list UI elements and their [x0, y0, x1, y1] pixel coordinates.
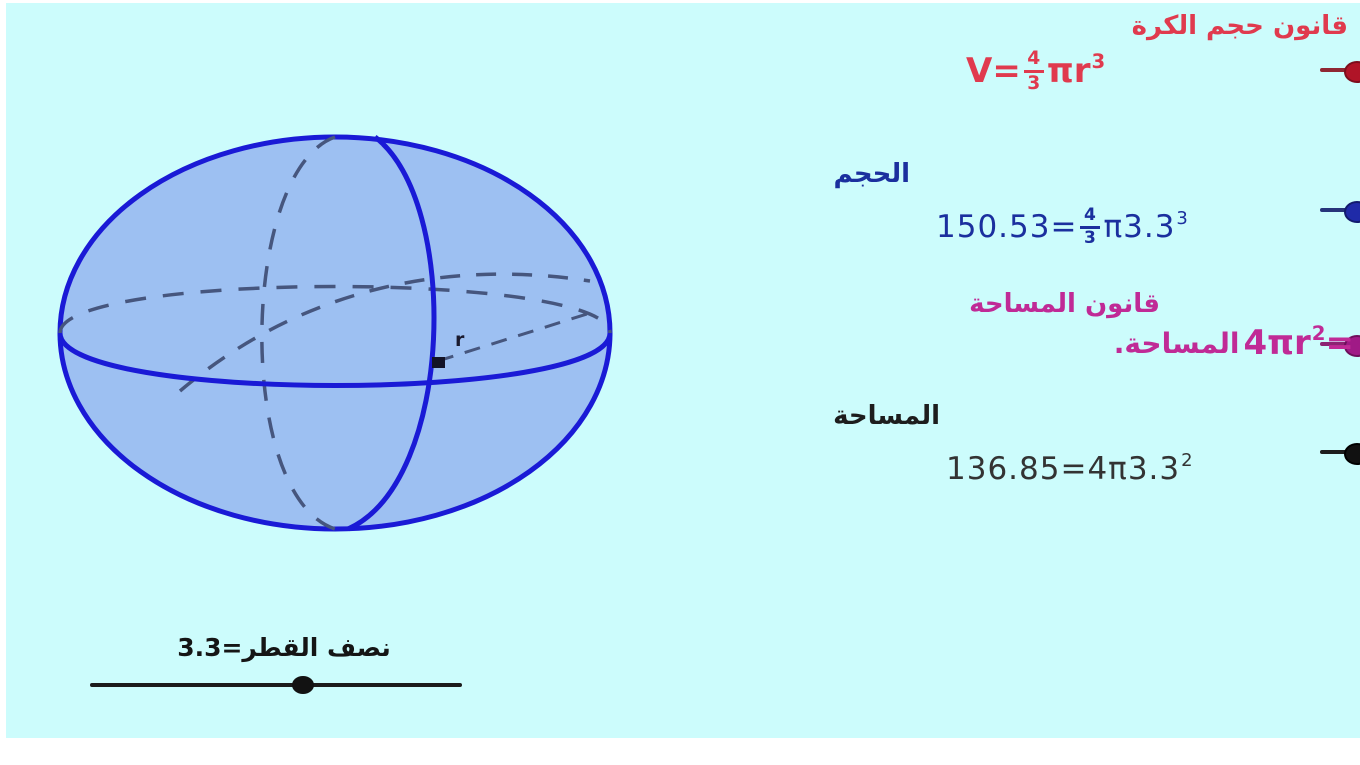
radius-label: r	[455, 329, 464, 351]
volume-value-fraction: 4 3	[1080, 207, 1100, 248]
area-formula-arabic-label: المساحة.	[1114, 327, 1240, 360]
radius-slider-label: نصف القطر=3.3	[84, 633, 484, 662]
algebra-panel: قانون حجم الكرة V= 4 3 πr 3	[826, 11, 1360, 541]
volume-formula-fraction: 4 3	[1024, 49, 1044, 93]
area-value-lhs: 136.85=4π3.3	[946, 451, 1180, 487]
volume-value-denominator: 3	[1082, 230, 1099, 248]
applet-stage: r قانون حجم الكرة V= 4 3	[0, 0, 1360, 765]
geometry-canvas[interactable]: r قانون حجم الكرة V= 4 3	[6, 3, 1360, 738]
area-formula-title: قانون المساحة	[826, 289, 1360, 319]
radius-slider[interactable]: نصف القطر=3.3	[84, 633, 484, 723]
radius-slider-thumb[interactable]	[292, 676, 314, 694]
area-formula-expression: 4πr 2 = المساحة.	[1114, 323, 1354, 363]
sphere-svg	[30, 111, 690, 561]
left-white-margin	[0, 0, 6, 765]
radius-slider-track[interactable]	[90, 683, 462, 687]
volume-formula-lhs: V=	[966, 51, 1021, 91]
volume-formula-numerator: 4	[1025, 49, 1042, 69]
algebra-block-area-formula[interactable]: قانون المساحة 4πr 2 = المساحة.	[826, 289, 1360, 387]
area-formula-equals: =	[1326, 323, 1355, 363]
red-point-marker[interactable]	[1318, 57, 1360, 83]
volume-formula-expression: V= 4 3 πr 3	[966, 49, 1105, 93]
area-value-title: المساحة	[826, 401, 1360, 431]
top-white-margin	[0, 0, 1360, 3]
volume-value-title: الحجم	[826, 159, 1360, 189]
volume-value-expression: 150.53= 4 3 π3.3 3	[936, 207, 1189, 248]
volume-value-lhs: 150.53=	[936, 209, 1077, 245]
right-angle-marker	[432, 357, 445, 368]
algebra-block-volume-value[interactable]: الحجم 150.53= 4 3 π3.3 3	[826, 159, 1360, 271]
volume-value-tail: π3.3	[1103, 209, 1175, 245]
volume-formula-denominator: 3	[1025, 74, 1042, 94]
black-point-marker[interactable]	[1318, 439, 1360, 465]
area-formula-rhs: 4πr 2 =	[1243, 323, 1354, 363]
area-value-expression: 136.85=4π3.3 2	[946, 451, 1194, 487]
volume-value-numerator: 4	[1082, 207, 1099, 225]
blue-point-marker[interactable]	[1318, 197, 1360, 223]
algebra-block-area-value[interactable]: المساحة 136.85=4π3.3 2	[826, 401, 1360, 511]
algebra-block-volume-formula[interactable]: قانون حجم الكرة V= 4 3 πr 3	[826, 11, 1360, 119]
bottom-white-margin	[0, 738, 1360, 765]
volume-formula-title: قانون حجم الكرة	[826, 11, 1360, 41]
area-formula-tail: 4πr	[1243, 323, 1310, 363]
volume-formula-tail: πr	[1047, 51, 1091, 91]
sphere-diagram[interactable]: r	[30, 111, 690, 561]
